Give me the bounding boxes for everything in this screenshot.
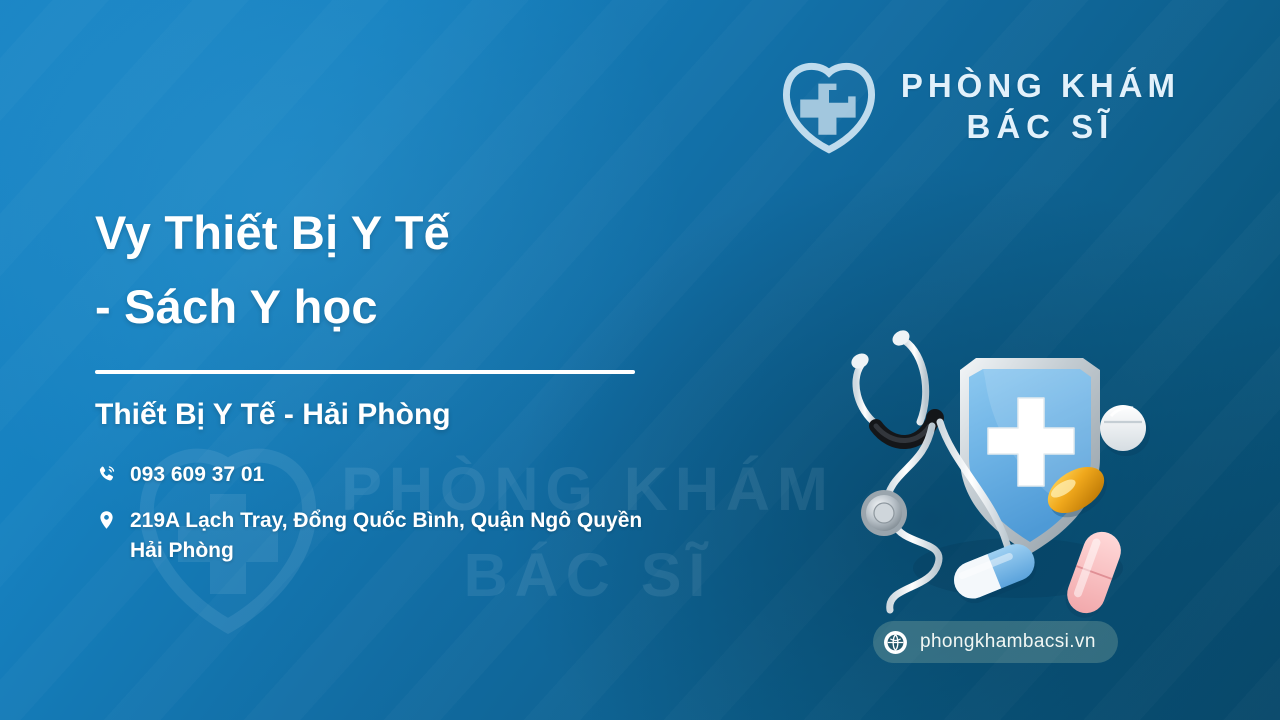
page-subtitle: Thiết Bị Y Tế - Hải Phòng [95,396,795,434]
address-text: 219A Lạch Tray, Đổng Quốc Bình, Quận Ngô… [130,506,642,566]
phone-number: 093 609 37 01 [130,460,264,490]
contact-info: 093 609 37 01 219A Lạch Tray, Đổng Quốc … [95,460,795,566]
page-title-line2: - Sách Y học [95,270,795,344]
medical-cross-heart-icon [775,58,883,156]
shield-icon [960,358,1100,554]
brand-logo-text: PHÒNG KHÁM BÁC SĨ [901,66,1180,148]
website-url: phongkhambacsi.vn [920,630,1096,654]
contact-phone-row[interactable]: 093 609 37 01 [95,460,795,490]
address-line2: Hải Phòng [130,536,642,566]
page-title-line1: Vy Thiết Bị Y Tế [95,196,795,270]
contact-address-row[interactable]: 219A Lạch Tray, Đổng Quốc Bình, Quận Ngô… [95,506,795,566]
banner-content: Vy Thiết Bị Y Tế - Sách Y học Thiết Bị Y… [95,196,795,582]
page-title: Vy Thiết Bị Y Tế - Sách Y học [95,196,795,344]
brand-logo-line1: PHÒNG KHÁM [901,66,1180,106]
phone-icon [95,461,117,487]
clinic-banner: PHÒNG KHÁM BÁC SĨ PHÒNG KHÁM BÁC SĨ Vy T… [0,0,1280,720]
brand-logo: PHÒNG KHÁM BÁC SĨ [775,58,1180,156]
title-divider [95,370,635,374]
medical-illustration [828,318,1168,628]
website-badge[interactable]: phongkhambacsi.vn [873,621,1118,663]
address-line1: 219A Lạch Tray, Đổng Quốc Bình, Quận Ngô… [130,509,642,532]
white-tablet-icon [1100,405,1150,456]
brand-logo-line2: BÁC SĨ [901,106,1180,148]
globe-icon [883,630,908,655]
location-pin-icon [95,507,117,533]
